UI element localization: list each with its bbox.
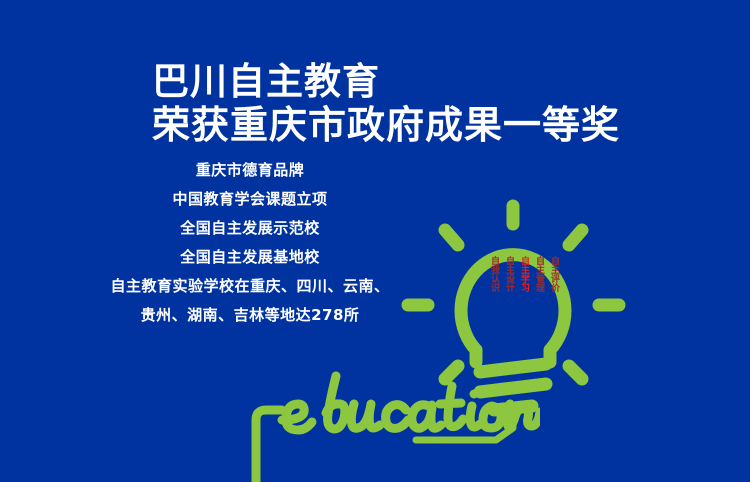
list-item: 贵州、湖南、吉林等地达278所	[40, 308, 460, 323]
slogan-2: 自主管理	[530, 256, 543, 292]
education-script-word	[240, 368, 540, 482]
slogan-4: 自主设计	[500, 256, 513, 292]
achievement-list: 重庆市德育品牌 中国教育学会课题立项 全国自主发展示范校 全国自主发展基地校 自…	[40, 163, 460, 337]
slogan-3: 自主学习	[515, 256, 528, 292]
list-item: 自主教育实验学校在重庆、四川、云南、	[40, 279, 460, 294]
headline-line-1: 巴川自主教育	[152, 62, 612, 101]
list-item: 中国教育学会课题立项	[40, 192, 460, 207]
poster-canvas: 巴川自主教育 荣获重庆市政府成果一等奖 重庆市德育品牌 中国教育学会课题立项 全…	[0, 0, 750, 482]
slogan-1: 自主评价	[545, 256, 558, 292]
slogan-5: 自我认识	[485, 256, 498, 292]
headline-line-2: 荣获重庆市政府成果一等奖	[152, 105, 612, 145]
list-item: 重庆市德育品牌	[40, 163, 460, 178]
slogan-group: 自主评价 自主管理 自主学习 自主设计 自我认识	[484, 256, 558, 318]
list-item: 全国自主发展示范校	[40, 221, 460, 236]
page-title: 巴川自主教育 荣获重庆市政府成果一等奖	[152, 62, 612, 145]
list-item: 全国自主发展基地校	[40, 250, 460, 265]
